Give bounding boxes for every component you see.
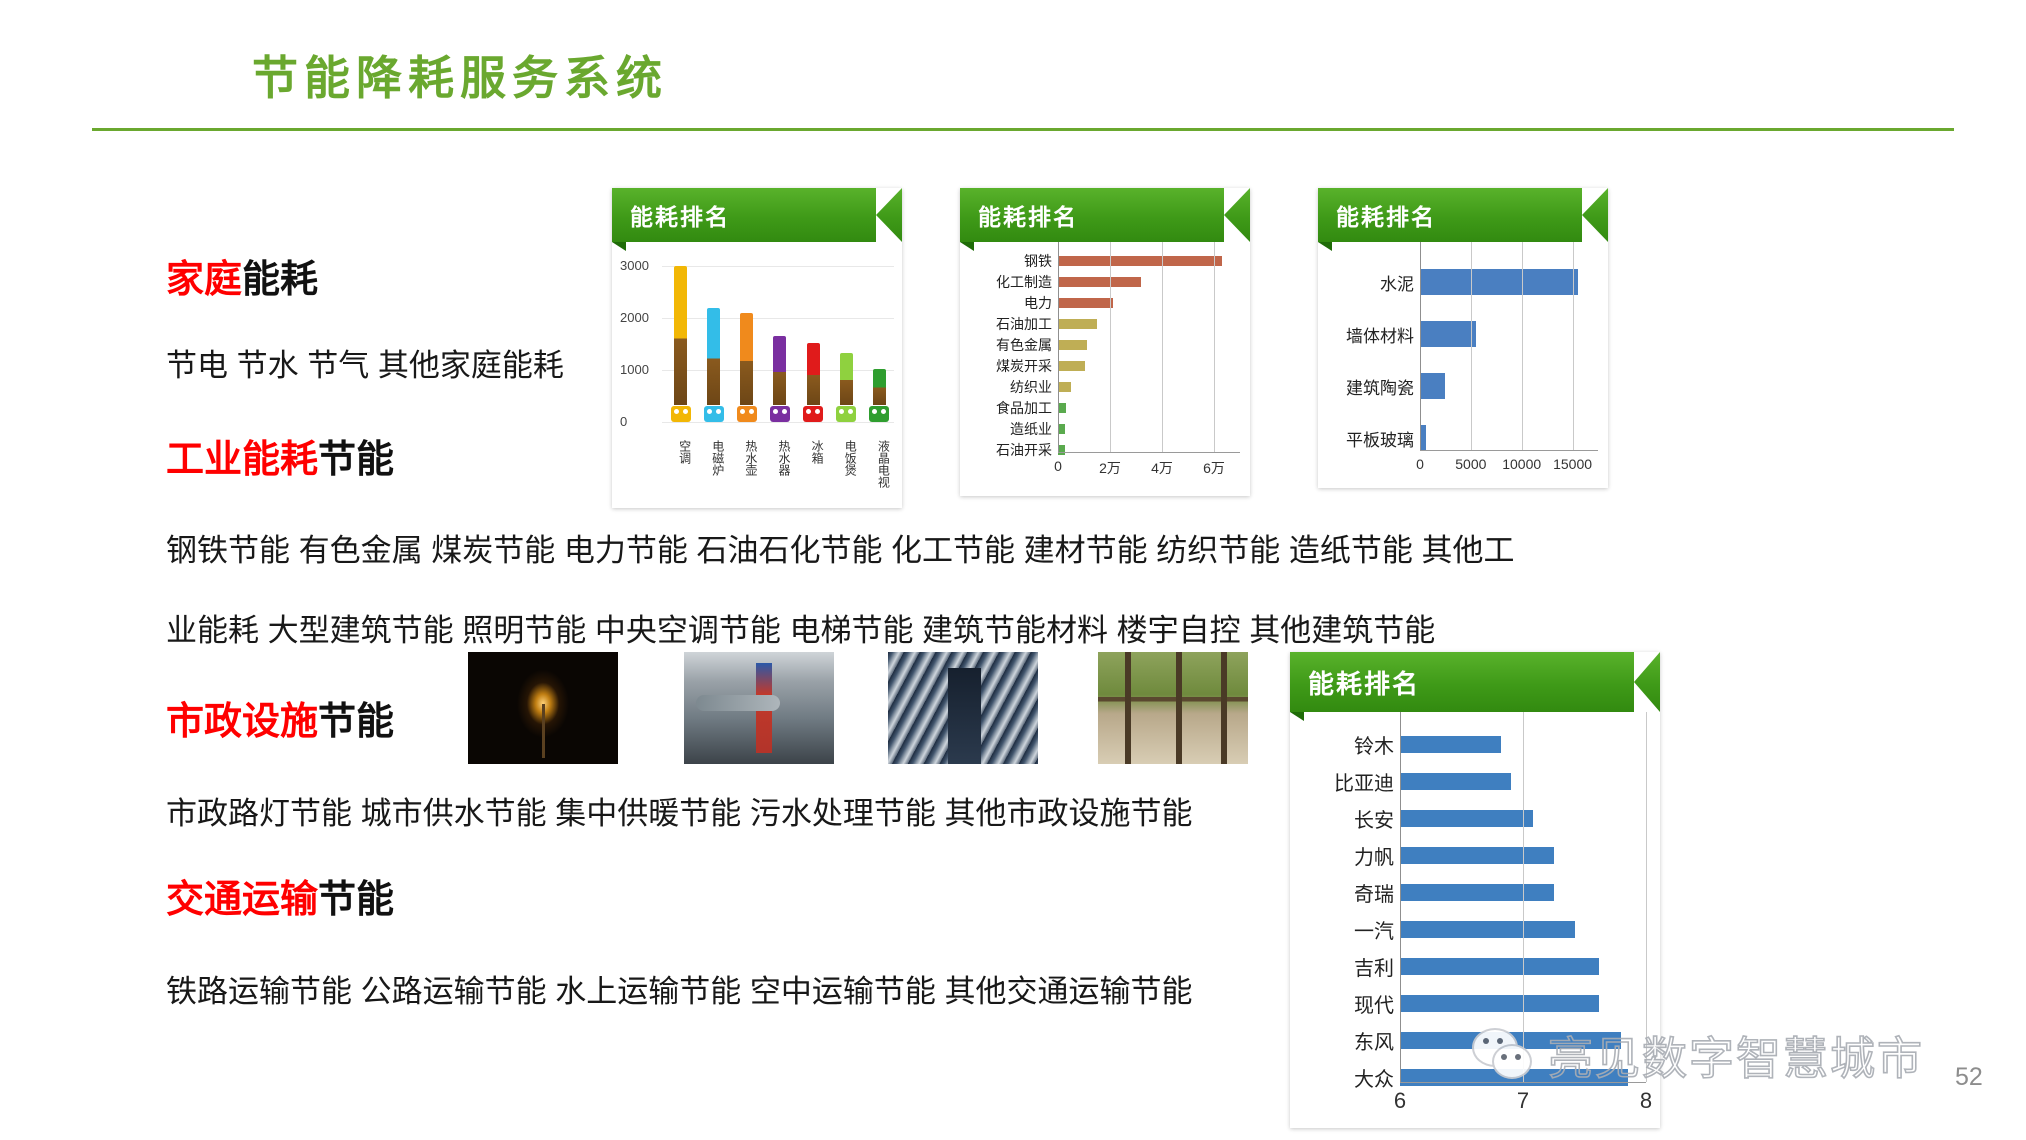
bar-track: [1058, 418, 1240, 439]
x-axis-tick-label: 热水器: [770, 440, 790, 502]
bar: [1058, 256, 1222, 266]
bar-item: 水泥: [1324, 256, 1598, 308]
category-label: 石油加工: [966, 314, 1058, 334]
bar-item: 电力: [966, 292, 1240, 313]
bar-track: [1058, 376, 1240, 397]
ribbon-notch-icon: [1582, 188, 1608, 242]
gridline: [1420, 242, 1421, 450]
appliance-icon: [836, 406, 856, 422]
bar: [1058, 445, 1065, 455]
bar-item: 力帆: [1296, 837, 1646, 874]
y-axis-tick-label: 3000: [620, 258, 649, 273]
bar: [1420, 373, 1445, 399]
bar-track: [1058, 313, 1240, 334]
bar-item: 一汽: [1296, 911, 1646, 948]
bar: [1400, 958, 1599, 975]
bar: [1058, 340, 1087, 350]
category-label: 造纸业: [966, 419, 1058, 439]
category-label: 长安: [1296, 804, 1400, 833]
bar: [1058, 361, 1085, 371]
bar-track: [1058, 397, 1240, 418]
section-body-industry-line-1: 钢铁节能 有色金属 煤炭节能 电力节能 石油石化节能 化工节能 建材节能 纺织节…: [166, 525, 1515, 570]
category-label: 煤炭开采: [966, 356, 1058, 376]
bar-item: 有色金属: [966, 334, 1240, 355]
chart-card-building-material: 能耗排名 水泥墙体材料建筑陶瓷平板玻璃050001000015000: [1318, 188, 1608, 488]
bar-series: 水泥墙体材料建筑陶瓷平板玻璃: [1324, 256, 1598, 488]
bar: [674, 266, 687, 405]
bar: [740, 313, 753, 405]
bar-item: 现代: [1296, 985, 1646, 1022]
x-axis-tick-label: 15000: [1553, 456, 1592, 472]
bar-item: 吉利: [1296, 948, 1646, 985]
bar-item: 食品加工: [966, 397, 1240, 418]
bar-item: [836, 256, 856, 422]
bar: [1058, 277, 1141, 287]
section-heading-transport-rest: 节能: [318, 879, 394, 921]
title-divider: [92, 128, 1954, 131]
bar: [873, 369, 886, 405]
bar: [1058, 424, 1065, 434]
category-label: 有色金属: [966, 335, 1058, 355]
bar-track: [1058, 250, 1240, 271]
section-body-transport-line-1: 铁路运输节能 公路运输节能 水上运输节能 空中运输节能 其他交通运输节能: [166, 966, 1192, 1011]
category-label: 化工制造: [966, 272, 1058, 292]
bar: [1400, 736, 1501, 753]
appliance-icon: [671, 406, 691, 422]
category-label: 钢铁: [966, 251, 1058, 271]
x-axis-tick-label: 电饭煲: [836, 440, 856, 502]
chart-card-home-appliance: 能耗排名 3000200010000空调电磁炉热水壶热水器冰箱电饭煲液晶电视: [612, 188, 902, 508]
section-heading-transport-highlight: 交通运输: [166, 879, 318, 921]
x-axis-tick-label: 10000: [1502, 456, 1541, 472]
chart-plot-building: 水泥墙体材料建筑陶瓷平板玻璃050001000015000: [1318, 242, 1608, 488]
gridline: [1573, 242, 1574, 450]
chart-card-industry: 能耗排名 钢铁化工制造电力石油加工有色金属煤炭开采纺织业食品加工造纸业石油开采0…: [960, 188, 1250, 496]
photo-high-rise-buildings: [888, 652, 1038, 764]
x-axis-tick-label: 冰箱: [803, 440, 823, 502]
gridline: [1110, 242, 1111, 452]
bar-item: 铃木: [1296, 726, 1646, 763]
watermark-text: 亮见数字智慧城市: [1548, 1022, 1924, 1087]
section-heading-municipal-highlight: 市政设施: [166, 701, 318, 743]
x-axis-tick-label: 8: [1640, 1088, 1652, 1114]
bar: [707, 308, 720, 405]
bar-item: 石油加工: [966, 313, 1240, 334]
chart-title-ribbon-industry: 能耗排名: [960, 188, 1250, 242]
chart-title-auto: 能耗排名: [1308, 664, 1420, 701]
appliance-icon: [869, 406, 889, 422]
category-label: 大众: [1296, 1063, 1400, 1092]
bar: [773, 336, 786, 405]
x-axis-tick-label: 液晶电视: [869, 440, 889, 502]
appliance-icon: [770, 406, 790, 422]
bar-track: [1058, 292, 1240, 313]
ribbon-notch-icon: [1224, 188, 1250, 242]
section-heading-transport: 交通运输节能: [166, 868, 394, 923]
x-axis-tick-label: 6: [1394, 1088, 1406, 1114]
x-axis-tick-label: 热水壶: [737, 440, 757, 502]
category-label: 食品加工: [966, 398, 1058, 418]
category-label: 力帆: [1296, 841, 1400, 870]
bar-track: [1058, 439, 1240, 460]
category-label: 东风: [1296, 1026, 1400, 1055]
section-heading-home-rest: 能耗: [242, 259, 318, 301]
category-label: 电力: [966, 293, 1058, 313]
bar: [840, 353, 853, 405]
category-label: 吉利: [1296, 952, 1400, 981]
category-label: 一汽: [1296, 915, 1400, 944]
bar-item: [737, 256, 757, 422]
category-label: 平板玻璃: [1324, 426, 1420, 451]
ribbon-notch-icon: [1634, 652, 1660, 712]
bar-item: 比亚迪: [1296, 763, 1646, 800]
category-label: 建筑陶瓷: [1324, 374, 1420, 399]
section-heading-municipal-rest: 节能: [318, 701, 394, 743]
bar: [1058, 403, 1066, 413]
chart-title-industry: 能耗排名: [978, 198, 1078, 232]
y-axis-tick-label: 2000: [620, 310, 649, 325]
section-heading-industry: 工业能耗节能: [166, 428, 394, 483]
category-label: 纺织业: [966, 377, 1058, 397]
x-axis-tick-label: 0: [1416, 456, 1424, 472]
watermark: 亮见数字智慧城市: [1470, 1022, 1924, 1087]
bar: [1058, 382, 1071, 392]
section-body-home-line-1: 节电 节水 节气 其他家庭能耗: [166, 340, 564, 385]
gridline: [1162, 242, 1163, 452]
bar-item: [770, 256, 790, 422]
gridline: [662, 422, 894, 423]
chart-plot-industry: 钢铁化工制造电力石油加工有色金属煤炭开采纺织业食品加工造纸业石油开采02万4万6…: [960, 242, 1250, 496]
bar: [1058, 298, 1113, 308]
gridline: [1400, 712, 1401, 1082]
bar-item: 钢铁: [966, 250, 1240, 271]
bar-item: 建筑陶瓷: [1324, 360, 1598, 412]
y-axis-tick-label: 0: [620, 414, 627, 429]
bar: [807, 343, 820, 405]
chart-plot-home: 3000200010000空调电磁炉热水壶热水器冰箱电饭煲液晶电视: [612, 242, 902, 508]
bar: [1400, 773, 1511, 790]
chart-title-ribbon-home: 能耗排名: [612, 188, 902, 242]
bar: [1420, 269, 1578, 295]
axis-line: [1058, 452, 1240, 453]
x-axis-tick-label: 5000: [1455, 456, 1486, 472]
category-label: 铃木: [1296, 730, 1400, 759]
bar-item: [869, 256, 889, 422]
bar-item: 墙体材料: [1324, 308, 1598, 360]
photo-window-frame-interior: [1098, 652, 1248, 764]
photo-water-supply-equipment: [684, 652, 834, 764]
ribbon-notch-icon: [876, 188, 902, 242]
appliance-icon: [803, 406, 823, 422]
bar: [1400, 995, 1599, 1012]
gridline: [1471, 242, 1472, 450]
x-axis-tick-label: 2万: [1099, 458, 1121, 478]
section-heading-industry-highlight: 工业能耗: [166, 439, 318, 481]
wechat-icon: [1470, 1028, 1536, 1082]
bar-item: 化工制造: [966, 271, 1240, 292]
category-label: 石油开采: [966, 440, 1058, 460]
chart-title-ribbon-building: 能耗排名: [1318, 188, 1608, 242]
category-label: 现代: [1296, 989, 1400, 1018]
bar-track: [1420, 308, 1598, 360]
section-heading-industry-rest: 节能: [318, 439, 394, 481]
bar-track: [1058, 334, 1240, 355]
x-axis-tick-label: 4万: [1151, 458, 1173, 478]
gridline: [1058, 242, 1059, 452]
category-label: 奇瑞: [1296, 878, 1400, 907]
gridline: [1522, 242, 1523, 450]
bar-item: 长安: [1296, 800, 1646, 837]
bar: [1058, 319, 1097, 329]
x-axis-tick-label: 0: [1054, 458, 1062, 474]
bar-item: [704, 256, 724, 422]
x-axis-labels: 空调电磁炉热水壶热水器冰箱电饭煲液晶电视: [664, 440, 896, 502]
bar-track: [1420, 256, 1598, 308]
bar: [1400, 847, 1554, 864]
bar-track: [1058, 355, 1240, 376]
chart-title-home: 能耗排名: [630, 198, 730, 232]
bar: [1420, 321, 1476, 347]
bar-item: 石油开采: [966, 439, 1240, 460]
bar: [1400, 921, 1575, 938]
page-title: 节能降耗服务系统: [252, 42, 668, 108]
category-label: 墙体材料: [1324, 322, 1420, 347]
bar-item: [671, 256, 691, 422]
chart-title-ribbon-auto: 能耗排名: [1290, 652, 1660, 712]
bar-track: [1058, 271, 1240, 292]
bar-item: 造纸业: [966, 418, 1240, 439]
x-axis-tick-label: 空调: [671, 440, 691, 502]
section-body-industry-line-2: 业能耗 大型建筑节能 照明节能 中央空调节能 电梯节能 建筑节能材料 楼宇自控 …: [166, 605, 1435, 650]
category-label: 水泥: [1324, 270, 1420, 295]
page-number: 52: [1955, 1063, 1983, 1092]
appliance-icon: [737, 406, 757, 422]
category-label: 比亚迪: [1296, 767, 1400, 796]
bar-item: 奇瑞: [1296, 874, 1646, 911]
section-heading-home-highlight: 家庭: [166, 259, 242, 301]
axis-line: [1420, 450, 1598, 451]
chart-title-building: 能耗排名: [1336, 198, 1436, 232]
bar-item: 纺织业: [966, 376, 1240, 397]
bar-item: 煤炭开采: [966, 355, 1240, 376]
y-axis-tick-label: 1000: [620, 362, 649, 377]
x-axis-tick-label: 7: [1517, 1088, 1529, 1114]
bar-track: [1420, 360, 1598, 412]
bar: [1400, 810, 1533, 827]
photo-street-light-at-night: [468, 652, 618, 764]
appliance-icon: [704, 406, 724, 422]
section-heading-home: 家庭能耗: [166, 248, 318, 303]
gridline: [1214, 242, 1215, 452]
bar: [1400, 884, 1554, 901]
bar-series: [664, 256, 896, 422]
section-body-municipal-line-1: 市政路灯节能 城市供水节能 集中供暖节能 污水处理节能 其他市政设施节能: [166, 788, 1192, 833]
x-axis-tick-label: 电磁炉: [704, 440, 724, 502]
x-axis-tick-label: 6万: [1203, 458, 1225, 478]
bar-item: [803, 256, 823, 422]
section-heading-municipal: 市政设施节能: [166, 690, 394, 745]
